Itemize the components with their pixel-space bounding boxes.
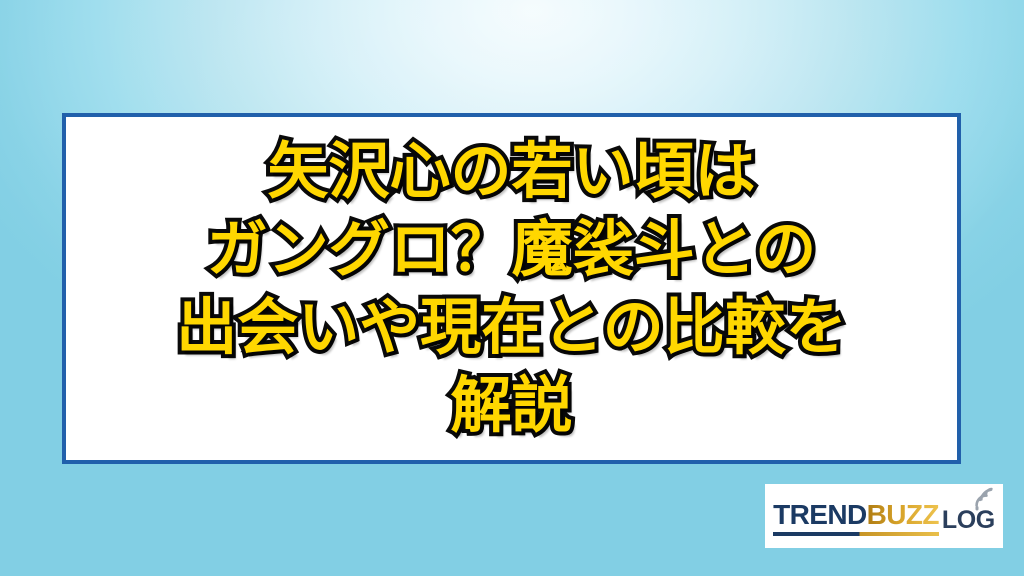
logo-underline-bar (773, 532, 939, 536)
title-line-4: 解説 (72, 367, 951, 445)
logo-text-buzz: BUZZ (867, 499, 939, 530)
wifi-signal-icon (973, 487, 999, 511)
site-logo-badge[interactable]: TRENDBUZZ LOG (765, 484, 1003, 548)
thumbnail-canvas: 矢沢心の若い頃は ガングロ？魔裟斗との 出会いや現在との比較を 解説 TREND… (0, 0, 1024, 576)
title-line-1: 矢沢心の若い頃は (72, 133, 951, 211)
title-line-2: ガングロ？魔裟斗との (72, 211, 951, 289)
logo-text-trend: TREND (773, 499, 866, 530)
title-card: 矢沢心の若い頃は ガングロ？魔裟斗との 出会いや現在との比較を 解説 (62, 113, 961, 464)
logo-log-group: LOG (942, 507, 995, 536)
logo-inner: TRENDBUZZ LOG (773, 496, 995, 536)
logo-wordmark-group: TRENDBUZZ (773, 500, 939, 536)
logo-wordmark-line: TRENDBUZZ (773, 499, 939, 530)
title-line-3: 出会いや現在との比較を (72, 289, 951, 367)
title-text-block: 矢沢心の若い頃は ガングロ？魔裟斗との 出会いや現在との比較を 解説 (66, 133, 957, 445)
